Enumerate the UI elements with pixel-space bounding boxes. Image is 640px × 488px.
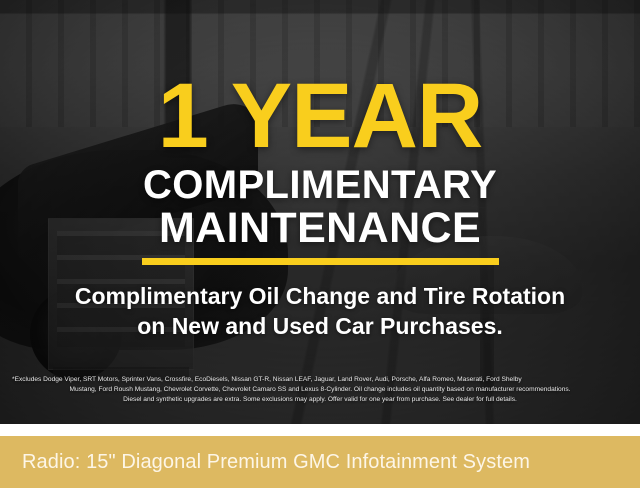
promo-hero: 1 YEAR COMPLIMENTARY MAINTENANCE Complim…	[0, 0, 640, 424]
footer-strip: Radio: 15" Diagonal Premium GMC Infotain…	[0, 424, 640, 488]
disclaimer-line-1: *Excludes Dodge Viper, SRT Motors, Sprin…	[12, 375, 628, 385]
feature-highlight-text: Radio: 15" Diagonal Premium GMC Infotain…	[0, 451, 530, 474]
disclaimer-fine-print: *Excludes Dodge Viper, SRT Motors, Sprin…	[12, 375, 628, 406]
headline-complimentary: COMPLIMENTARY	[143, 165, 497, 206]
disclaimer-line-2: Mustang, Ford Roush Mustang, Chevrolet C…	[12, 385, 628, 395]
yellow-divider-rule	[142, 258, 499, 265]
offer-description: Complimentary Oil Change and Tire Rotati…	[75, 282, 565, 341]
offer-line-2: on New and Used Car Purchases.	[75, 312, 565, 341]
maintenance-promo-banner: 1 YEAR COMPLIMENTARY MAINTENANCE Complim…	[0, 0, 640, 488]
headline-year: 1 YEAR	[158, 74, 483, 159]
offer-line-1: Complimentary Oil Change and Tire Rotati…	[75, 282, 565, 311]
feature-highlight-bar[interactable]: Radio: 15" Diagonal Premium GMC Infotain…	[0, 436, 640, 488]
promo-content: 1 YEAR COMPLIMENTARY MAINTENANCE Complim…	[0, 0, 640, 424]
disclaimer-line-3: Diesel and synthetic upgrades are extra.…	[12, 395, 628, 405]
headline-maintenance: MAINTENANCE	[159, 206, 481, 250]
